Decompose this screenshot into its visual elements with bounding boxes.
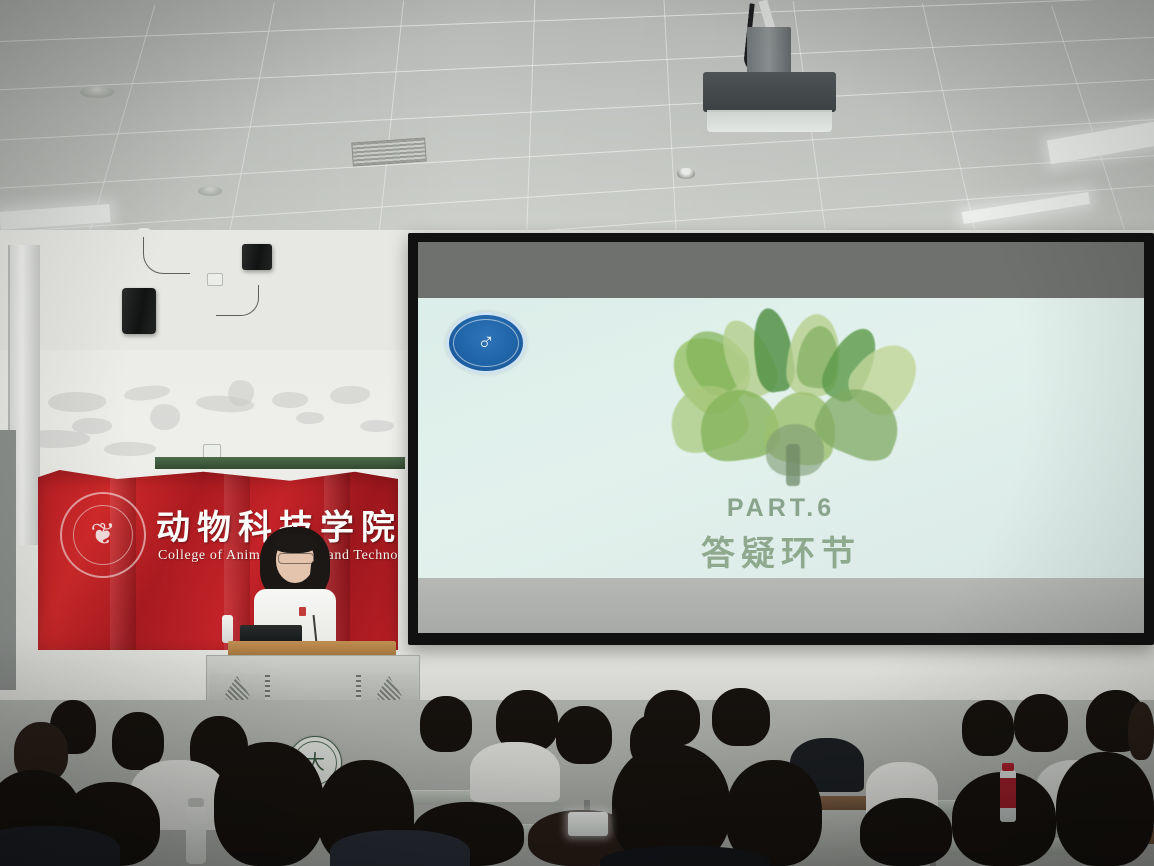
- projector-body: [703, 72, 836, 112]
- slide-part-label: PART.6: [418, 494, 1144, 523]
- red-banner: ❦ 动物科技学院 College of Animal Science and T…: [38, 470, 398, 650]
- screen-surface: ♂ PART.6: [418, 242, 1144, 633]
- lecture-hall-photo: ❦ 动物科技学院 College of Animal Science and T…: [0, 0, 1154, 866]
- audience-head: [712, 688, 770, 746]
- doorway: [0, 430, 16, 690]
- wall-speaker: [242, 244, 272, 270]
- back-wall-upper: [0, 230, 420, 350]
- projector-lens: [707, 110, 832, 132]
- water-bottle: [222, 615, 233, 643]
- audience-head: [420, 696, 472, 752]
- letterbox-bottom: [418, 578, 1144, 633]
- audience-head-front: [214, 742, 324, 866]
- audience-head: [962, 700, 1014, 756]
- beverage-bottle: [1000, 770, 1016, 822]
- water-bottle: [186, 806, 206, 864]
- presentation-slide: ♂ PART.6: [418, 298, 1144, 578]
- watercolor-plant-illustration: [670, 304, 920, 474]
- presenter-badge: [299, 607, 306, 616]
- audience-head: [556, 706, 612, 764]
- presenter-glasses: [278, 553, 314, 564]
- letterbox-top: [418, 242, 1144, 298]
- projector-bracket: [747, 27, 791, 75]
- presenter-fringe: [273, 533, 317, 553]
- audience-torso: [470, 742, 560, 802]
- audience-head-front: [1056, 752, 1154, 866]
- wall-speaker: [122, 288, 156, 334]
- audience-head-front: [860, 798, 952, 866]
- phone-screen: [568, 812, 608, 836]
- slide-logo-icon: ♂: [446, 312, 526, 374]
- ceiling: [0, 0, 1154, 250]
- ceiling-projector: [703, 72, 836, 134]
- audience-torso: [330, 830, 470, 866]
- projection-screen: ♂ PART.6: [408, 233, 1154, 645]
- audience-head: [1014, 694, 1068, 752]
- dome-camera-icon: [677, 168, 695, 179]
- slide-title: 答疑环节: [418, 526, 1144, 575]
- audience-head: [644, 690, 700, 746]
- audience-head: [112, 712, 164, 770]
- chalkboard-edge: [155, 457, 405, 469]
- college-seal-banner: ❦: [60, 492, 146, 578]
- audience-head: [1128, 702, 1154, 760]
- seal-glyph: ❦: [90, 520, 115, 550]
